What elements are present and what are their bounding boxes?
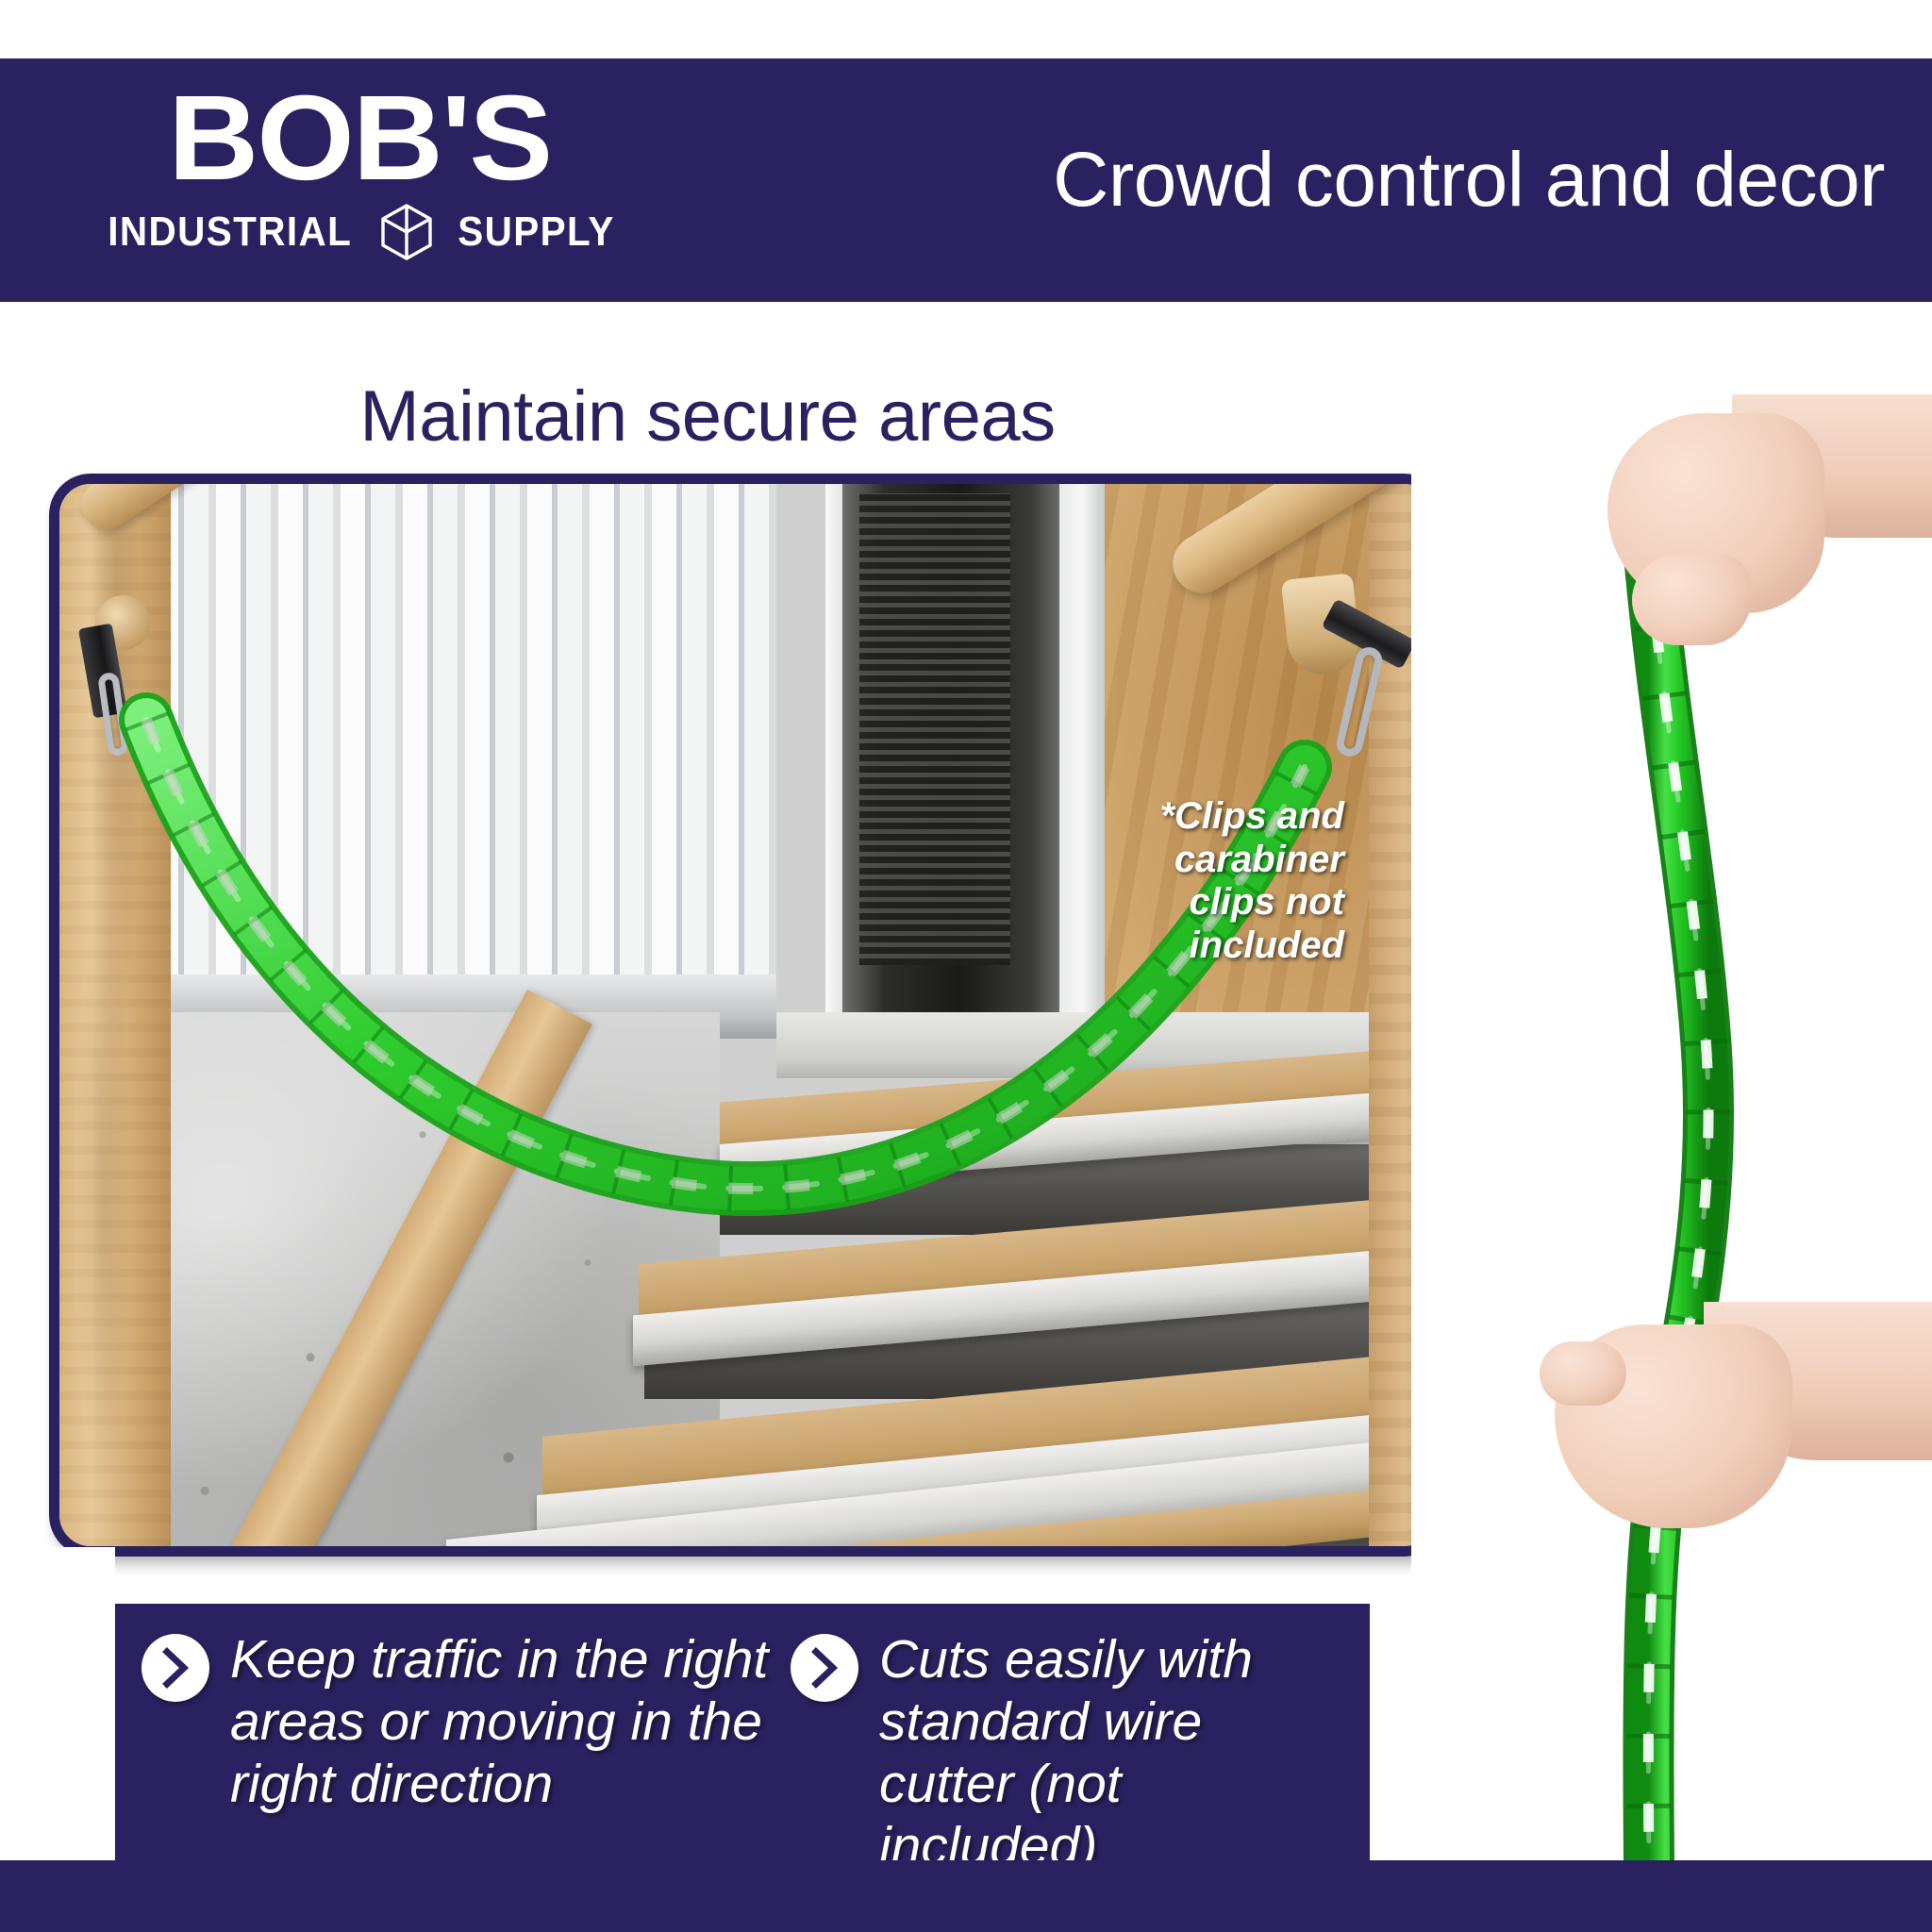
brand-name-secondary: INDUSTRIAL SUPPLY	[97, 203, 622, 261]
brand-name-primary: BOB'S	[168, 79, 551, 197]
hand-top	[1591, 387, 1932, 670]
panel-notch-white	[1370, 1604, 1411, 1860]
brand-word-industrial: INDUSTRIAL	[108, 208, 352, 256]
hand-bottom	[1534, 1292, 1930, 1575]
brand-logo[interactable]: BOB'S INDUSTRIAL SUPPLY	[91, 79, 628, 261]
chevron-right-icon	[791, 1634, 858, 1702]
product-photo-scene: *Clips and carabiner clips not included	[59, 484, 1435, 1546]
green-plastic-chain	[59, 484, 1435, 1546]
feature-text-1: Keep traffic in the right areas or movin…	[230, 1628, 775, 1815]
photo-disclaimer: *Clips and carabiner clips not included	[1127, 795, 1344, 967]
features-panel: Keep traffic in the right areas or movin…	[115, 1604, 1370, 1860]
feature-item-2: Cuts easily with standard wire cutter (n…	[775, 1628, 1304, 1860]
header-tagline: Crowd control and decor	[811, 58, 1906, 302]
product-photo-card: *Clips and carabiner clips not included	[49, 474, 1445, 1557]
feature-text-2: Cuts easily with standard wire cutter (n…	[879, 1628, 1304, 1877]
thumb-bottom	[1540, 1341, 1626, 1406]
left-white-margin	[0, 1547, 115, 1860]
brand-word-supply: SUPPLY	[458, 208, 615, 256]
header-tagline-text: Crowd control and decor	[1053, 136, 1885, 225]
finger-top	[1632, 555, 1751, 645]
page-title: Maintain secure areas	[0, 375, 1415, 458]
feature-item-1: Keep traffic in the right areas or movin…	[115, 1628, 775, 1860]
chevron-right-icon	[142, 1634, 209, 1702]
footer-bar	[0, 1860, 1932, 1932]
page-title-text: Maintain secure areas	[359, 376, 1055, 457]
page-header: BOB'S INDUSTRIAL SUPPLY Crowd control an…	[0, 58, 1932, 302]
chain-demo-column	[1411, 321, 1932, 1860]
cube-icon	[379, 203, 434, 261]
